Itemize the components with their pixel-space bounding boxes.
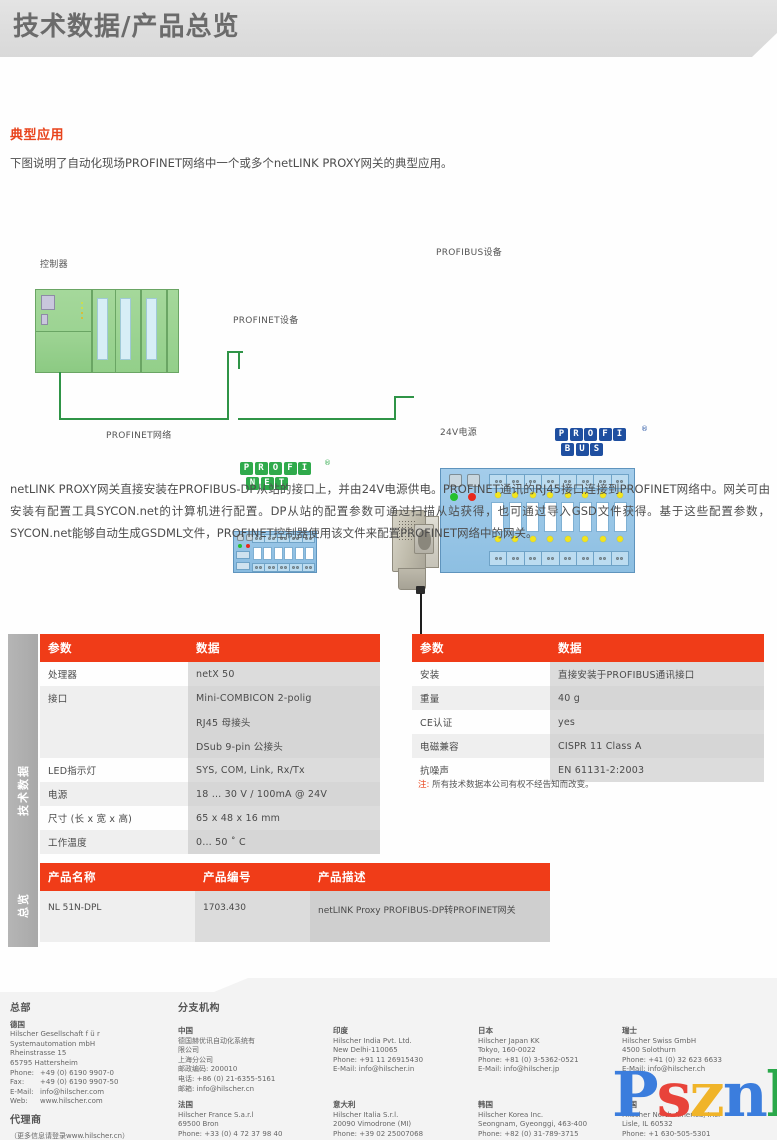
footer-phone-value: +81 (0) 3-5362-0521 <box>504 1056 578 1064</box>
footer-phone-row: Phone: +39 02 25007068 <box>333 1130 473 1140</box>
col-header-product-name: 产品名称 <box>40 863 195 891</box>
row-key: 尺寸 (长 x 宽 x 高) <box>40 806 188 830</box>
footer-phone-value: +33 (0) 4 72 37 98 40 <box>204 1130 282 1138</box>
footer-address-line: Seongnam, Gyeonggi, 463-400 <box>478 1120 618 1130</box>
col-header-product-description: 产品描述 <box>310 863 550 891</box>
footer-phone-value: +86 (0) 21-6355-5161 <box>197 1075 276 1083</box>
footer-email-row: E-Mail: info@hilscher.jp <box>478 1065 613 1075</box>
footer-office-france: 法国 Hilscher France S.a.r.l 69500 Bron Ph… <box>178 1100 323 1139</box>
technical-data-table-left: 参数 数据 处理器 netX 50 接口 Mini-COMBICON 2-pol… <box>40 634 380 854</box>
cell-product-number: 1703.430 <box>195 891 310 942</box>
network-cable-segment <box>227 351 243 353</box>
row-value: 直接安装于PROFIBUS通讯接口 <box>550 662 764 686</box>
footer-fax-label: Fax: <box>10 1078 40 1088</box>
profinet-logo-letter: P <box>240 462 253 475</box>
footer-address-line: Hilscher North America, Inc. <box>622 1111 772 1121</box>
table-row: 接口 Mini-COMBICON 2-polig <box>40 686 380 710</box>
page-title: 技术数据/产品总览 <box>13 6 240 43</box>
table-row: CE认证 yes <box>412 710 764 734</box>
footer-phone-label: Phone: <box>622 1056 646 1064</box>
footer-phone-label: Phone: <box>333 1130 357 1138</box>
row-key: 接口 <box>40 686 188 710</box>
plc-io-module-3 <box>141 289 167 373</box>
footer-email-value[interactable]: info@hilscher.jp <box>504 1065 560 1073</box>
row-key: 处理器 <box>40 662 188 686</box>
footer-address-line: 4500 Solothurn <box>622 1046 772 1056</box>
row-value: 0… 50 ˚ C <box>188 830 380 854</box>
footer-phone-value: +1 630-505-5301 <box>648 1130 710 1138</box>
section-tab-technical-data-label: 技术数据 <box>15 764 31 816</box>
table-row: 处理器 netX 50 <box>40 662 380 686</box>
row-value: Mini-COMBICON 2-polig <box>188 686 380 710</box>
footer-phone-value: +91 11 26915430 <box>359 1056 423 1064</box>
diagram-label-controller: 控制器 <box>40 257 68 270</box>
footer-phone-label: Phone: <box>10 1069 40 1079</box>
footer-email-value[interactable]: info@hilscher.cn <box>197 1085 254 1093</box>
footer-address-line: Hilscher Italia S.r.l. <box>333 1111 473 1121</box>
registered-trademark-icon: ® <box>641 425 648 433</box>
footer-email-label: E-Mail: <box>333 1065 357 1073</box>
footer-country-switzerland: 瑞士 <box>622 1026 772 1036</box>
registered-trademark-icon: ® <box>324 459 331 467</box>
table-row: NL 51N-DPL 1703.430 netLINK Proxy PROFIB… <box>40 891 550 942</box>
footer-address-line: Rheinstrasse 15 <box>10 1049 175 1059</box>
row-key: 重量 <box>412 686 550 710</box>
footer-office-japan: 日本 Hilscher Japan KK Tokyo, 160-0022 Pho… <box>478 1026 613 1075</box>
table-row: RJ45 母接头 <box>40 710 380 734</box>
footer-address-line: 20090 Vimodrone (MI) <box>333 1120 473 1130</box>
footer-web-label: Web: <box>10 1097 40 1107</box>
network-topology-diagram: 控制器 PROFINET设备 PROFIBUS设备 PROFINET网络 24V… <box>0 200 777 460</box>
profibus-logo-letter: I <box>613 428 626 441</box>
row-key <box>40 734 188 758</box>
technical-data-table-right: 参数 数据 安装 直接安装于PROFIBUS通讯接口 重量 40 g CE认证 … <box>412 634 764 782</box>
row-value: netX 50 <box>188 662 380 686</box>
footer-phone-row: Phone:+49 (0) 6190 9907-0 <box>10 1069 175 1079</box>
table-row: 工作温度 0… 50 ˚ C <box>40 830 380 854</box>
row-value: CISPR 11 Class A <box>550 734 764 758</box>
footer-office-usa: 美国 Hilscher North America, Inc. Lisle, I… <box>622 1100 772 1139</box>
footer-email-value[interactable]: info@hilscher.com <box>40 1088 104 1096</box>
footer-postal-label: 邮政编码: <box>178 1065 208 1073</box>
footer-country-china: 中国 <box>178 1026 323 1036</box>
footer-address-line: Tokyo, 160-0022 <box>478 1046 613 1056</box>
footer-phone-label: Phone: <box>478 1056 502 1064</box>
footer-email-row: E-Mail: info@hilscher.in <box>333 1065 473 1075</box>
footer-fax-value: +49 (0) 6190 9907-50 <box>40 1078 118 1086</box>
row-key: 电磁兼容 <box>412 734 550 758</box>
footer-address-line: Hilscher India Pvt. Ltd. <box>333 1037 473 1047</box>
footer-phone-label: Phone: <box>178 1130 202 1138</box>
network-cable-segment <box>59 418 229 420</box>
diagram-label-profinet-network: PROFINET网络 <box>106 428 172 441</box>
profibus-logo-letter: B <box>561 443 574 456</box>
footer-email-row: E-Mail:info@hilscher.com <box>10 1088 175 1098</box>
profibus-logo-letter: S <box>590 443 603 456</box>
footer-phone-value: +39 02 25007068 <box>359 1130 423 1138</box>
profibus-logo: P R O F I B U S ® <box>555 428 647 460</box>
network-cable-segment <box>394 396 414 398</box>
row-value: SYS, COM, Link, Rx/Tx <box>188 758 380 782</box>
note-text: 所有技术数据本公司有权不经告知而改变。 <box>432 780 594 790</box>
table-row: LED指示灯 SYS, COM, Link, Rx/Tx <box>40 758 380 782</box>
plc-cpu-lower <box>35 331 92 373</box>
footer-heading-branches-wrap: 分支机构 <box>178 1004 220 1020</box>
footer-phone-label: 电话: <box>178 1075 194 1083</box>
footer-email-row: E-Mail: info@hilscher.ch <box>622 1065 772 1075</box>
cell-product-description: netLINK Proxy PROFIBUS-DP转PROFINET网关 <box>310 891 550 942</box>
plc-slot-cover <box>41 314 48 325</box>
row-key: LED指示灯 <box>40 758 188 782</box>
footer-country-italy: 意大利 <box>333 1100 473 1110</box>
footer-address-line: 65795 Hattersheim <box>10 1059 175 1069</box>
footer-phone-label: Phone: <box>333 1056 357 1064</box>
profinet-logo-row-top: P R O F I <box>240 462 330 475</box>
footer-office-korea: 韩国 Hilscher Korea Inc. Seongnam, Gyeongg… <box>478 1100 618 1139</box>
footer-phone-row: Phone: +33 (0) 4 72 37 98 40 <box>178 1130 323 1140</box>
footer-phone-value: +49 (0) 6190 9907-0 <box>40 1069 114 1077</box>
footer-address-line: 上海分公司 <box>178 1056 323 1066</box>
footer-country-korea: 韩国 <box>478 1100 618 1110</box>
footer-column-headquarters: 总部 德国 Hilscher Gesellschaft f ü r System… <box>10 1004 175 1141</box>
footer-web-row: Web:www.hilscher.com <box>10 1097 175 1107</box>
note-prefix: 注: <box>418 780 429 790</box>
footer-postal-row: 邮政编码: 200010 <box>178 1065 323 1075</box>
plc-led-3 <box>81 312 83 314</box>
table-row: 安装 直接安装于PROFIBUS通讯接口 <box>412 662 764 686</box>
profinet-logo-letter: I <box>298 462 311 475</box>
product-overview-table: 产品名称 产品编号 产品描述 NL 51N-DPL 1703.430 netLI… <box>40 863 550 942</box>
footer-heading-headquarters: 总部 <box>10 1004 175 1014</box>
footer-country-india: 印度 <box>333 1026 473 1036</box>
cell-product-name: NL 51N-DPL <box>40 891 195 942</box>
footer-office-switzerland: 瑞士 Hilscher Swiss GmbH 4500 Solothurn Ph… <box>622 1026 772 1075</box>
status-led-red <box>246 544 250 548</box>
footer-email-label: E-Mail: <box>622 1065 646 1073</box>
footer-address-line: Hilscher France S.a.r.l <box>178 1111 323 1121</box>
footer-country-japan: 日本 <box>478 1026 613 1036</box>
row-key: CE认证 <box>412 710 550 734</box>
col-header-data: 数据 <box>550 634 764 662</box>
footer-postal-value: 200010 <box>211 1065 238 1073</box>
section-tab-overview-label: 总览 <box>15 892 31 918</box>
footer-fax-row: Fax:+49 (0) 6190 9907-50 <box>10 1078 175 1088</box>
row-value: yes <box>550 710 764 734</box>
footer-address-line: 德国赫优讯自动化系统有 <box>178 1037 323 1047</box>
section-heading-typical-application: 典型应用 <box>10 124 64 143</box>
footer-email-value[interactable]: info@hilscher.in <box>359 1065 415 1073</box>
table-row: 重量 40 g <box>412 686 764 710</box>
row-value: DSub 9-pin 公接头 <box>188 734 380 758</box>
footer-office-germany: 德国 Hilscher Gesellschaft f ü r Systemaut… <box>10 1020 175 1107</box>
footer-address-line: Hilscher Swiss GmbH <box>622 1037 772 1047</box>
col-header-parameter: 参数 <box>40 634 188 662</box>
table-row: 电磁兼容 CISPR 11 Class A <box>412 734 764 758</box>
intro-paragraph: 下图说明了自动化现场PROFINET网络中一个或多个netLINK PROXY网… <box>10 155 710 172</box>
footer-address-line: 69500 Bron <box>178 1120 323 1130</box>
profibus-logo-letter: P <box>555 428 568 441</box>
profinet-logo-letter: F <box>284 462 297 475</box>
row-key <box>40 710 188 734</box>
plc-display <box>41 295 55 310</box>
network-cable-segment <box>238 351 240 369</box>
footer-email-label: 邮箱: <box>178 1085 194 1093</box>
footer-address-line: 限公司 <box>178 1046 323 1056</box>
footer-country-usa: 美国 <box>622 1100 772 1110</box>
footer-phone-label: Phone: <box>478 1130 502 1138</box>
plc-io-module-4 <box>167 289 179 373</box>
row-value: 40 g <box>550 686 764 710</box>
footer-phone-row: Phone: +41 (0) 32 623 6633 <box>622 1056 772 1066</box>
diagram-label-profinet-device: PROFINET设备 <box>233 313 299 326</box>
footer-address-line: Hilscher Japan KK <box>478 1037 613 1047</box>
footer-web-value[interactable]: www.hilscher.com <box>40 1097 103 1105</box>
network-cable-segment <box>238 418 396 420</box>
footer-country-france: 法国 <box>178 1100 323 1110</box>
row-key: 工作温度 <box>40 830 188 854</box>
footer-address-line: Lisle, IL 60532 <box>622 1120 772 1130</box>
footer-office-india: 印度 Hilscher India Pvt. Ltd. New Delhi-11… <box>333 1026 473 1075</box>
footer-address-line: Hilscher Gesellschaft f ü r <box>10 1030 175 1040</box>
plc-io-module-2 <box>115 289 141 373</box>
profibus-logo-letter: O <box>584 428 597 441</box>
footer-phone-value: +41 (0) 32 623 6633 <box>648 1056 722 1064</box>
footer-heading-branches: 分支机构 <box>178 1004 220 1014</box>
table-row: DSub 9-pin 公接头 <box>40 734 380 758</box>
row-value: 65 x 48 x 16 mm <box>188 806 380 830</box>
footer-phone-value: +82 (0) 31-789-3715 <box>504 1130 578 1138</box>
col-header-data: 数据 <box>188 634 380 662</box>
table-row: 尺寸 (长 x 宽 x 高) 65 x 48 x 16 mm <box>40 806 380 830</box>
footer-phone-row: Phone: +81 (0) 3-5362-0521 <box>478 1056 613 1066</box>
footer-heading-agent: 代理商 <box>10 1116 175 1126</box>
footer-email-label: E-Mail: <box>478 1065 502 1073</box>
network-cable-segment <box>394 396 396 420</box>
section-tab-overview: 总览 <box>8 863 38 947</box>
footer-office-china: 中国 德国赫优讯自动化系统有 限公司 上海分公司 邮政编码: 200010 电话… <box>178 1026 323 1094</box>
row-key: 安装 <box>412 662 550 686</box>
table-row: 电源 18 … 30 V / 100mA @ 24V <box>40 782 380 806</box>
diagram-label-24v-power: 24V电源 <box>440 425 477 438</box>
footer-address-line: Hilscher Korea Inc. <box>478 1111 618 1121</box>
footer-email-row: 邮箱: info@hilscher.cn <box>178 1085 323 1095</box>
footer-office-italy: 意大利 Hilscher Italia S.r.l. 20090 Vimodro… <box>333 1100 473 1139</box>
col-header-product-number: 产品编号 <box>195 863 310 891</box>
row-value: RJ45 母接头 <box>188 710 380 734</box>
profinet-logo-letter: R <box>255 462 268 475</box>
footer-phone-row: 电话: +86 (0) 21-6355-5161 <box>178 1075 323 1085</box>
footer-phone-label: Phone: <box>622 1130 646 1138</box>
profibus-logo-row-bottom: B U S <box>555 443 647 456</box>
footer-country-germany: 德国 <box>10 1020 175 1030</box>
diagram-label-profibus-device: PROFIBUS设备 <box>436 245 502 258</box>
status-led-green <box>238 544 242 548</box>
plc-led-4 <box>81 317 83 319</box>
row-value: 18 … 30 V / 100mA @ 24V <box>188 782 380 806</box>
plc-led-2 <box>81 307 83 309</box>
plc-led-1 <box>81 302 83 304</box>
technical-data-note: 注: 所有技术数据本公司有权不经告知而改变。 <box>418 778 594 790</box>
footer-phone-row: Phone: +91 11 26915430 <box>333 1056 473 1066</box>
profibus-logo-letter: U <box>576 443 589 456</box>
footer-email-label: E-Mail: <box>10 1088 40 1098</box>
network-cable-segment <box>59 372 61 420</box>
row-key: 电源 <box>40 782 188 806</box>
footer-address-line: Systemautomation mbH <box>10 1040 175 1050</box>
profibus-logo-row-top: P R O F I <box>555 428 647 441</box>
profibus-logo-letter: F <box>599 428 612 441</box>
profibus-logo-letter: R <box>570 428 583 441</box>
col-header-parameter: 参数 <box>412 634 550 662</box>
profinet-logo-letter: O <box>269 462 282 475</box>
footer-email-value[interactable]: info@hilscher.ch <box>648 1065 705 1073</box>
footer-phone-row: Phone: +82 (0) 31-789-3715 <box>478 1130 618 1140</box>
network-cable-segment <box>227 352 229 420</box>
footer-phone-row: Phone: +1 630-505-5301 <box>622 1130 772 1140</box>
body-paragraph: netLINK PROXY网关直接安装在PROFIBUS-DP从站的接口上，并由… <box>10 478 770 544</box>
footer-address-line: New Delhi-110065 <box>333 1046 473 1056</box>
